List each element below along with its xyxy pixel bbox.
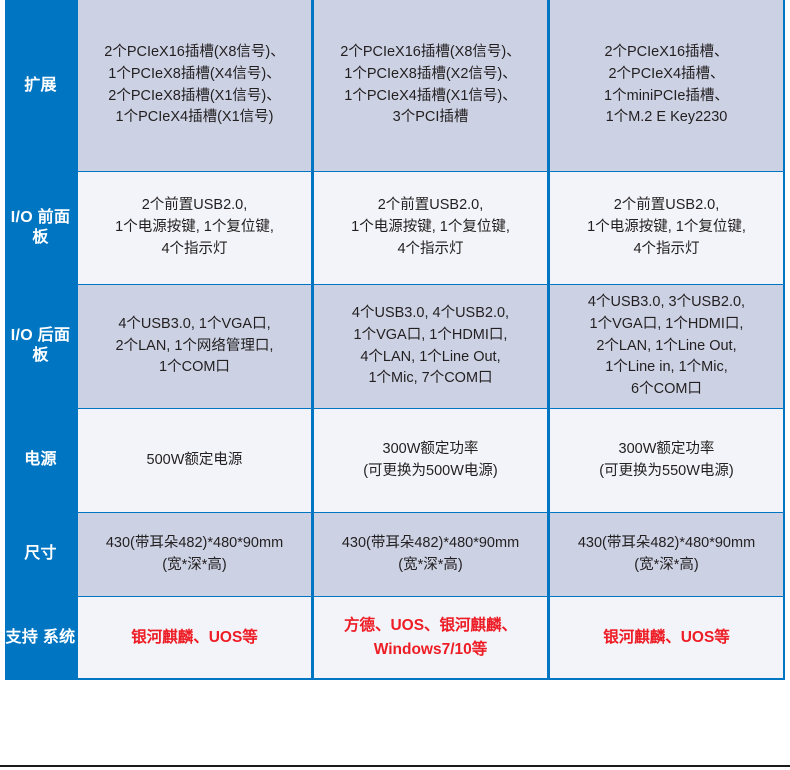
cell-expansion-col2: 2个PCIeX16插槽(X8信号)、 1个PCIeX8插槽(X2信号)、 1个P… — [312, 0, 549, 171]
row-cells-expansion: 2个PCIeX16插槽(X8信号)、 1个PCIeX8插槽(X4信号)、 2个P… — [76, 0, 785, 171]
cell-dimensions-col2: 430(带耳朵482)*480*90mm (宽*深*高) — [312, 512, 549, 596]
row-label-power-supply: 电源 — [5, 408, 76, 512]
cell-io-front-col3: 2个前置USB2.0, 1个电源按键, 1个复位键, 4个指示灯 — [548, 171, 785, 284]
row-label-io-rear-panel: I/O 后面板 — [5, 284, 76, 408]
cell-supported-systems-col1: 银河麒麟、UOS等 — [76, 596, 313, 680]
table-row-power-supply: 电源 500W额定电源 300W额定功率 (可更换为500W电源) 300W额定… — [5, 408, 785, 512]
cell-expansion-col3: 2个PCIeX16插槽、 2个PCIeX4插槽、 1个miniPCIe插槽、 1… — [548, 0, 785, 171]
table-row-io-front-panel: I/O 前面板 2个前置USB2.0, 1个电源按键, 1个复位键, 4个指示灯… — [5, 171, 785, 284]
page-bottom-rule — [0, 765, 790, 767]
cell-io-rear-col1: 4个USB3.0, 1个VGA口, 2个LAN, 1个网络管理口, 1个COM口 — [76, 284, 313, 408]
cell-dimensions-col3: 430(带耳朵482)*480*90mm (宽*深*高) — [548, 512, 785, 596]
cell-power-col2: 300W额定功率 (可更换为500W电源) — [312, 408, 549, 512]
cell-expansion-col1: 2个PCIeX16插槽(X8信号)、 1个PCIeX8插槽(X4信号)、 2个P… — [76, 0, 313, 171]
row-label-io-front-panel: I/O 前面板 — [5, 171, 76, 284]
cell-supported-systems-col2: 方德、UOS、银河麒麟、 Windows7/10等 — [312, 596, 549, 680]
row-label-dimensions: 尺寸 — [5, 512, 76, 596]
row-cells-dimensions: 430(带耳朵482)*480*90mm (宽*深*高) 430(带耳朵482)… — [76, 512, 785, 596]
cell-io-front-col2: 2个前置USB2.0, 1个电源按键, 1个复位键, 4个指示灯 — [312, 171, 549, 284]
cell-power-col3: 300W额定功率 (可更换为550W电源) — [548, 408, 785, 512]
table-row-io-rear-panel: I/O 后面板 4个USB3.0, 1个VGA口, 2个LAN, 1个网络管理口… — [5, 284, 785, 408]
table-row-supported-systems: 支持 系统 银河麒麟、UOS等 方德、UOS、银河麒麟、 Windows7/10… — [5, 596, 785, 680]
cell-dimensions-col1: 430(带耳朵482)*480*90mm (宽*深*高) — [76, 512, 313, 596]
row-label-expansion: 扩展 — [5, 0, 76, 171]
cell-io-rear-col2: 4个USB3.0, 4个USB2.0, 1个VGA口, 1个HDMI口, 4个L… — [312, 284, 549, 408]
row-cells-power-supply: 500W额定电源 300W额定功率 (可更换为500W电源) 300W额定功率 … — [76, 408, 785, 512]
row-cells-io-front-panel: 2个前置USB2.0, 1个电源按键, 1个复位键, 4个指示灯 2个前置USB… — [76, 171, 785, 284]
cell-power-col1: 500W额定电源 — [76, 408, 313, 512]
row-label-supported-systems: 支持 系统 — [5, 596, 76, 680]
row-cells-supported-systems: 银河麒麟、UOS等 方德、UOS、银河麒麟、 Windows7/10等 银河麒麟… — [76, 596, 785, 680]
spec-comparison-table: 扩展 2个PCIeX16插槽(X8信号)、 1个PCIeX8插槽(X4信号)、 … — [5, 0, 785, 680]
cell-supported-systems-col3: 银河麒麟、UOS等 — [548, 596, 785, 680]
table-row-expansion: 扩展 2个PCIeX16插槽(X8信号)、 1个PCIeX8插槽(X4信号)、 … — [5, 0, 785, 171]
table-row-dimensions: 尺寸 430(带耳朵482)*480*90mm (宽*深*高) 430(带耳朵4… — [5, 512, 785, 596]
cell-io-rear-col3: 4个USB3.0, 3个USB2.0, 1个VGA口, 1个HDMI口, 2个L… — [548, 284, 785, 408]
cell-io-front-col1: 2个前置USB2.0, 1个电源按键, 1个复位键, 4个指示灯 — [76, 171, 313, 284]
row-cells-io-rear-panel: 4个USB3.0, 1个VGA口, 2个LAN, 1个网络管理口, 1个COM口… — [76, 284, 785, 408]
